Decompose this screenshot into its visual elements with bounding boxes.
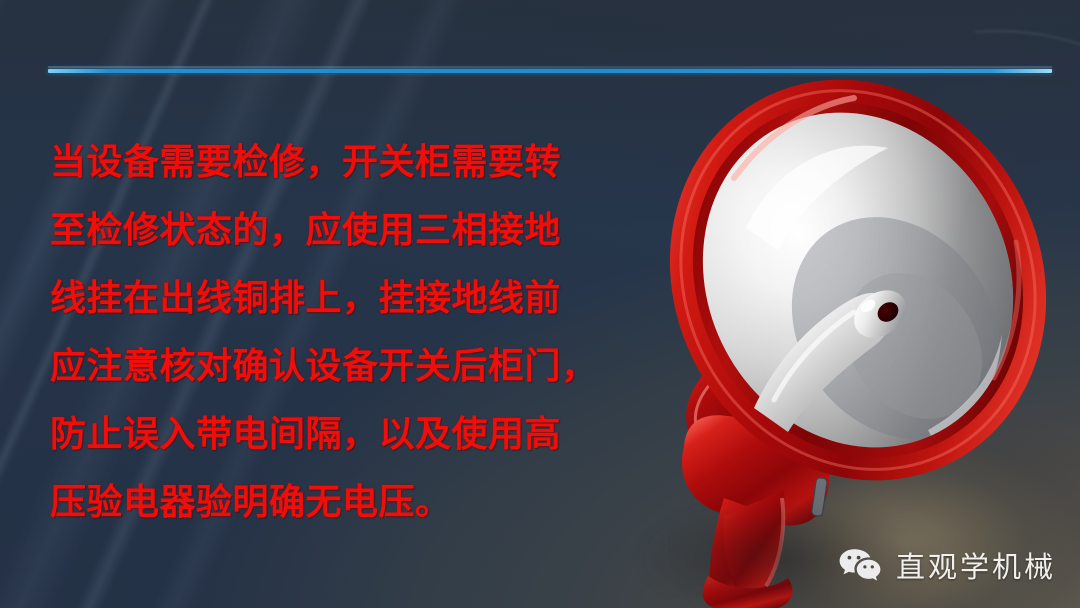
body-text-block: 当设备需要检修，开关柜需要转 至检修状态的，应使用三相接地 线挂在出线铜排上，挂…	[50, 128, 610, 536]
megaphone-illustration	[596, 78, 1076, 608]
body-text-line: 当设备需要检修，开关柜需要转	[50, 128, 610, 196]
body-text-line: 线挂在出线铜排上，挂接地线前	[50, 264, 610, 332]
watermark: 直观学机械	[838, 544, 1056, 586]
body-text-line: 应注意核对确认设备开关后柜门，	[50, 332, 610, 400]
body-text-line: 至检修状态的，应使用三相接地	[50, 196, 610, 264]
body-text-line: 防止误入带电间隔，以及使用高	[50, 400, 610, 468]
watermark-label: 直观学机械	[896, 544, 1056, 586]
body-text-line: 压验电器验明确无电压。	[50, 468, 610, 536]
wechat-icon	[838, 547, 882, 583]
blue-divider-line	[48, 69, 1052, 73]
slide-canvas: 当设备需要检修，开关柜需要转 至检修状态的，应使用三相接地 线挂在出线铜排上，挂…	[0, 0, 1080, 608]
megaphone-shadow	[636, 468, 966, 608]
